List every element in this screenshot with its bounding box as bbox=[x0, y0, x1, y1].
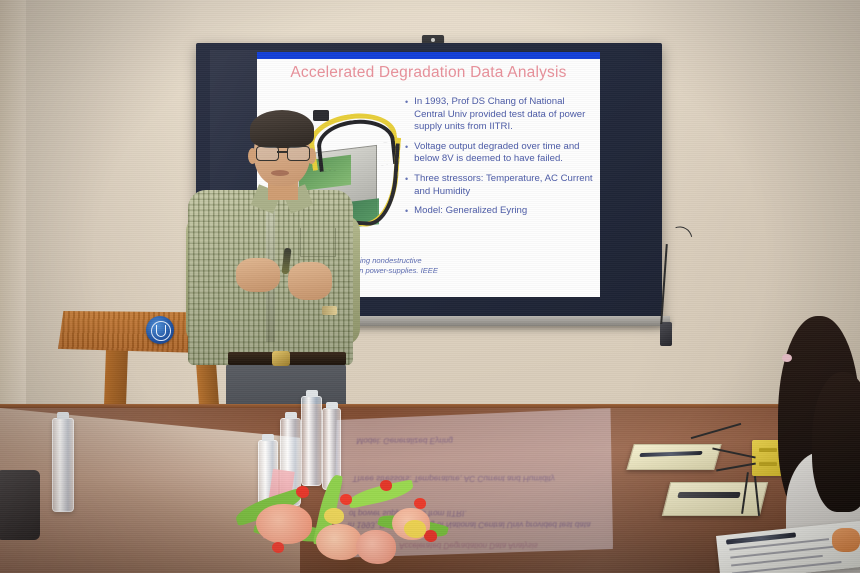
bottle-cap bbox=[306, 390, 318, 397]
list-item: • Three stressors: Temperature, AC Curre… bbox=[405, 173, 595, 198]
bullet-marker: • bbox=[405, 173, 408, 198]
notepad bbox=[662, 482, 768, 516]
attendee-hair-clip bbox=[782, 354, 792, 362]
bullet-marker: • bbox=[405, 141, 408, 166]
presenter-mouth bbox=[271, 170, 289, 176]
attendee-hair bbox=[812, 372, 860, 512]
psu-connector bbox=[313, 110, 329, 121]
shirt-pocket bbox=[300, 228, 336, 257]
attendee-hand bbox=[832, 528, 860, 552]
glasses-lens-left bbox=[256, 146, 279, 161]
water-bottle bbox=[52, 418, 74, 512]
flower-berry bbox=[272, 542, 284, 553]
bullet-marker: • bbox=[405, 205, 408, 218]
photo-scene: Accelerated Degradation Data Analysis • … bbox=[0, 0, 860, 573]
flower-berry bbox=[340, 494, 352, 505]
presenter-hair bbox=[250, 110, 314, 148]
flower-berry bbox=[296, 486, 309, 498]
flower-rose bbox=[316, 524, 362, 560]
flower-berry bbox=[424, 530, 437, 542]
bottle-cap bbox=[57, 412, 69, 419]
wristwatch-icon bbox=[322, 306, 337, 315]
bottle-cap bbox=[285, 412, 297, 419]
presenter-hand-left bbox=[236, 258, 280, 292]
outlet-slot-bottom bbox=[759, 462, 777, 466]
slide-top-band bbox=[257, 52, 600, 59]
wall-shadow-left bbox=[0, 0, 200, 430]
pen bbox=[677, 492, 740, 498]
bottle-cap bbox=[262, 434, 274, 441]
presenter-hand-right bbox=[288, 262, 332, 300]
university-crest-icon bbox=[146, 316, 174, 344]
bullet-text: Voltage output degraded over time and be… bbox=[414, 141, 595, 166]
list-item: • In 1993, Prof DS Chang of National Cen… bbox=[405, 96, 595, 134]
flower-yellow bbox=[404, 520, 426, 538]
chair bbox=[0, 470, 40, 540]
flower-rose bbox=[256, 504, 312, 544]
flower-berry bbox=[380, 480, 392, 491]
bottle-cap bbox=[326, 402, 338, 409]
belt-buckle-icon bbox=[272, 351, 290, 366]
flower-arrangement bbox=[228, 468, 458, 573]
slide-bullet-list: • In 1993, Prof DS Chang of National Cen… bbox=[405, 96, 595, 225]
list-item: • Model: Generalized Eyring bbox=[405, 205, 595, 218]
bullet-text: Three stressors: Temperature, AC Current… bbox=[414, 173, 595, 198]
flower-yellow bbox=[324, 508, 344, 524]
bullet-text: In 1993, Prof DS Chang of National Centr… bbox=[414, 96, 595, 134]
list-item: • Voltage output degraded over time and … bbox=[405, 141, 595, 166]
flower-rose bbox=[356, 530, 396, 564]
glasses-lens-right bbox=[287, 146, 310, 161]
slide-title: Accelerated Degradation Data Analysis bbox=[257, 64, 600, 82]
flower-berry bbox=[414, 498, 426, 509]
wall-corner bbox=[0, 0, 26, 430]
wall-mounted-sensor-icon bbox=[660, 322, 672, 346]
glasses-icon bbox=[256, 146, 308, 159]
outlet-slot-top bbox=[759, 448, 777, 452]
bullet-text: Model: Generalized Eyring bbox=[414, 205, 527, 218]
glasses-bridge bbox=[277, 151, 287, 153]
psu-cable-4 bbox=[350, 141, 400, 228]
bullet-marker: • bbox=[405, 96, 408, 134]
reflection-line: Model: Generalized Eyring bbox=[356, 435, 607, 446]
